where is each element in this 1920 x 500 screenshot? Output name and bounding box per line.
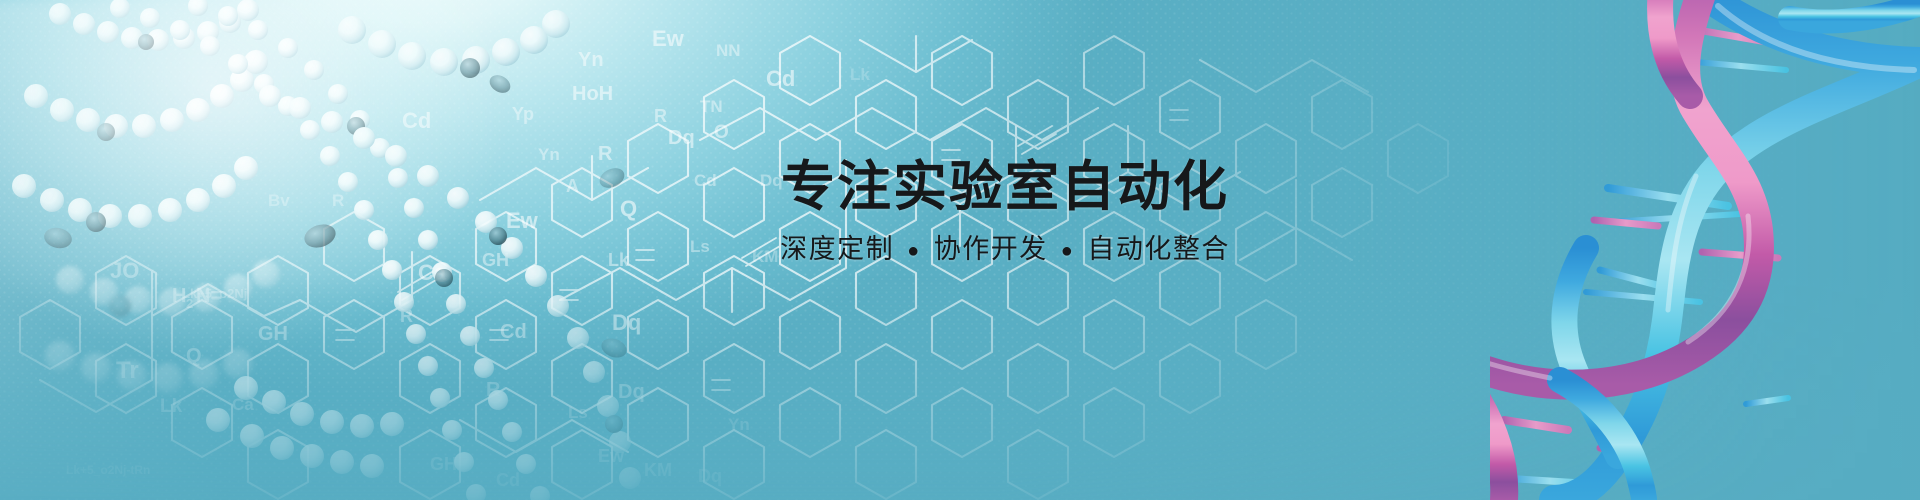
page-title: 专注实验室自动化 — [755, 160, 1255, 214]
subtitle-item-3: 自动化整合 — [1087, 234, 1230, 264]
bullet-dot-icon: ● — [903, 240, 925, 262]
subtitle-item-1: 深度定制 — [780, 234, 894, 264]
hero-banner: Tr JO Lk+5_o2Nj Lk+5_o2Nj-tRn H 2 N= GH … — [0, 0, 1920, 500]
subtitle: 深度定制 ● 协作开发 ● 自动化整合 — [755, 236, 1255, 263]
subtitle-item-2: 协作开发 — [934, 234, 1048, 264]
color-dna-double-helix — [1490, 0, 1920, 500]
bullet-dot-icon: ● — [1057, 240, 1079, 262]
hero-text-block: 专注实验室自动化 深度定制 ● 协作开发 ● 自动化整合 — [755, 160, 1255, 263]
